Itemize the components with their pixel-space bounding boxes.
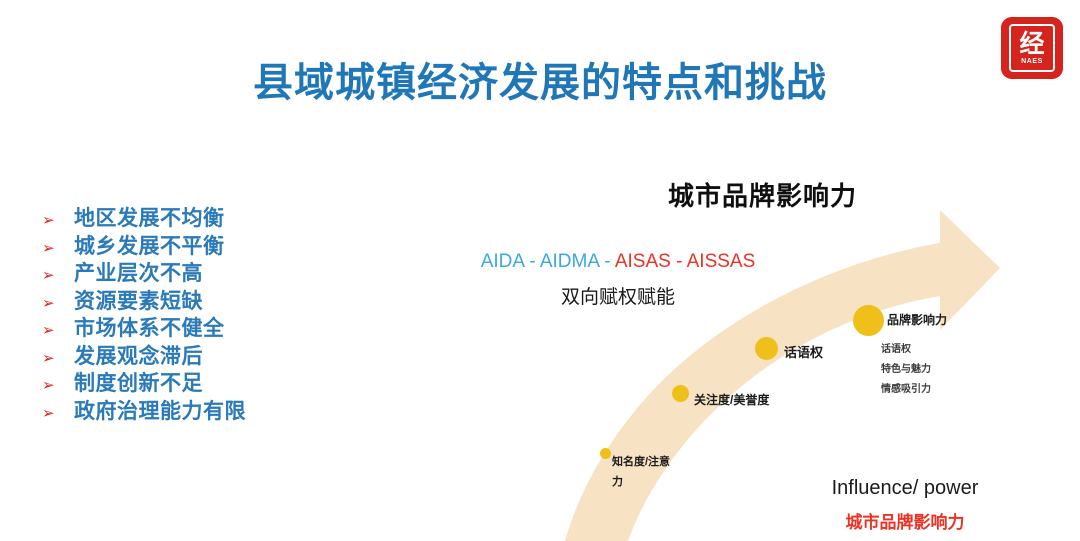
list-item-label: 制度创新不足 [74,370,203,398]
node-label-attention: 关注度/美誉度 [694,393,769,407]
arrow-bullet-icon: ➢ [42,290,74,318]
node-dot-attention [672,385,689,402]
subitem-label: 话语权 [881,340,931,360]
brand-influence-diagram: 城市品牌影响力 AIDA - AIDMA - AISAS - AISSAS 双向… [400,0,1080,541]
arrow-bullet-icon: ➢ [42,372,74,400]
arrow-bullet-icon: ➢ [42,317,74,345]
challenge-list: ➢ 地区发展不均衡 ➢ 城乡发展不平衡 ➢ 产业层次不高 ➢ 资源要素短缺 ➢ … [42,205,372,425]
node-dot-awareness [600,448,611,459]
growth-arrow-icon [400,0,1080,541]
list-item: ➢ 政府治理能力有限 [42,398,372,426]
list-item-label: 发展观念滞后 [74,343,203,371]
node-label-brand-influence: 品牌影响力 [887,313,947,327]
node-label-voice: 话语权 [784,345,823,360]
list-item-label: 资源要素短缺 [74,288,203,316]
list-item-label: 地区发展不均衡 [74,205,225,233]
node-dot-brand-influence [853,305,884,336]
list-item: ➢ 地区发展不均衡 [42,205,372,233]
arrow-bullet-icon: ➢ [42,262,74,290]
list-item: ➢ 城乡发展不平衡 [42,233,372,261]
list-item-label: 政府治理能力有限 [74,398,246,426]
brand-influence-subitems: 话语权 特色与魅力 情感吸引力 [881,340,931,400]
list-item: ➢ 资源要素短缺 [42,288,372,316]
arrow-bullet-icon: ➢ [42,207,74,235]
list-item: ➢ 产业层次不高 [42,260,372,288]
footer-label-cn: 城市品牌影响力 [785,508,1025,533]
slide-canvas: 经 NAES 县域城镇经济发展的特点和挑战 ➢ 地区发展不均衡 ➢ 城乡发展不平… [0,0,1080,541]
list-item-label: 产业层次不高 [74,260,203,288]
node-label-awareness: 知名度/注意 力 [612,452,670,492]
list-item: ➢ 市场体系不健全 [42,315,372,343]
arrow-bullet-icon: ➢ [42,400,74,428]
list-item-label: 市场体系不健全 [74,315,225,343]
node-dot-voice [755,337,778,360]
arrow-bullet-icon: ➢ [42,235,74,263]
list-item-label: 城乡发展不平衡 [74,233,225,261]
list-item: ➢ 制度创新不足 [42,370,372,398]
subitem-label: 情感吸引力 [881,380,931,400]
arrow-bullet-icon: ➢ [42,345,74,373]
subitem-label: 特色与魅力 [881,360,931,380]
list-item: ➢ 发展观念滞后 [42,343,372,371]
footer-label-en: Influence/ power [785,477,1025,500]
